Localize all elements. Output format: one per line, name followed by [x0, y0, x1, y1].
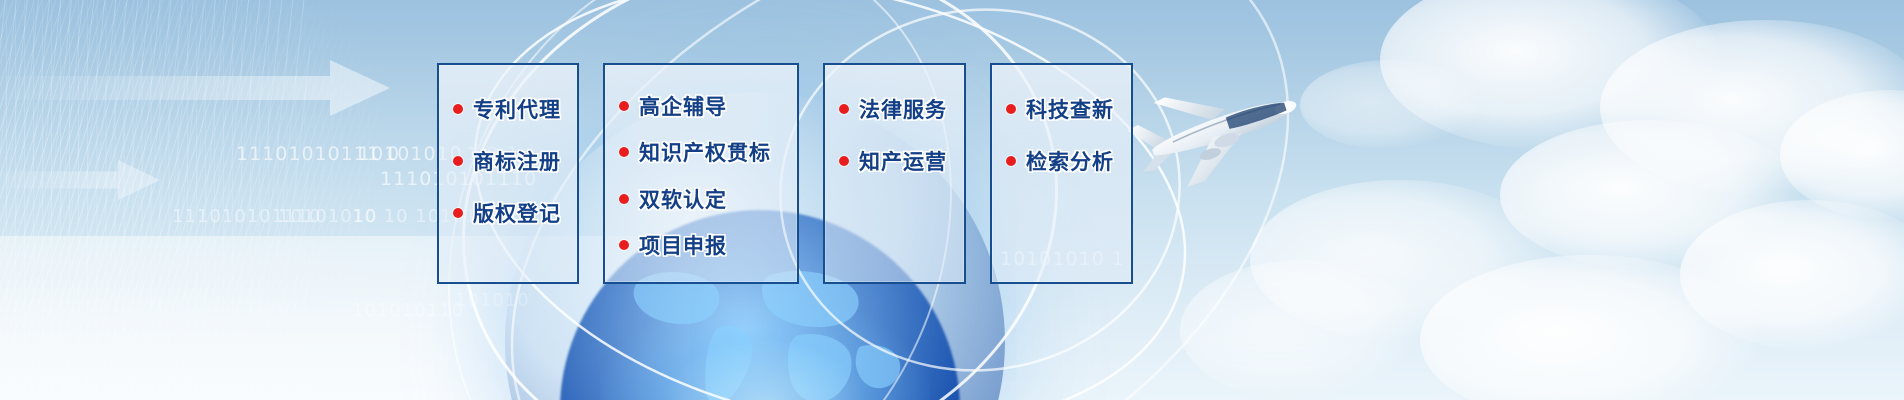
list-item[interactable]: 商标注册	[453, 135, 567, 187]
list-item[interactable]: 知产运营	[839, 135, 954, 187]
service-label: 法律服务	[859, 94, 947, 124]
list-item[interactable]: 双软认定	[619, 176, 787, 222]
bullet-icon	[839, 104, 849, 114]
bullet-icon	[453, 104, 463, 114]
list-item[interactable]: 版权登记	[453, 187, 567, 239]
bullet-icon	[453, 208, 463, 218]
panel-enterprise[interactable]: 高企辅导 知识产权贯标 双软认定 项目申报	[603, 63, 799, 284]
panel-ip-basic[interactable]: 专利代理 商标注册 版权登记	[437, 63, 579, 284]
list-item[interactable]: 高企辅导	[619, 83, 787, 129]
service-label: 专利代理	[473, 94, 561, 124]
bullet-icon	[1006, 104, 1016, 114]
service-label: 知产运营	[859, 146, 947, 176]
bullet-icon	[619, 240, 629, 250]
bullet-icon	[839, 156, 849, 166]
service-label: 高企辅导	[639, 91, 727, 121]
service-label: 项目申报	[639, 230, 727, 260]
bullet-icon	[619, 194, 629, 204]
service-label: 检索分析	[1026, 146, 1114, 176]
panel-research[interactable]: 科技查新 检索分析	[990, 63, 1133, 284]
list-item[interactable]: 法律服务	[839, 83, 954, 135]
service-panels: 专利代理 商标注册 版权登记 高企辅导 知识产权贯标 双软	[0, 0, 1904, 400]
bullet-icon	[619, 147, 629, 157]
bullet-icon	[1006, 156, 1016, 166]
service-label: 商标注册	[473, 146, 561, 176]
list-item[interactable]: 项目申报	[619, 222, 787, 268]
service-label: 知识产权贯标	[639, 137, 771, 167]
panel-legal[interactable]: 法律服务 知产运营	[823, 63, 966, 284]
bullet-icon	[619, 101, 629, 111]
list-item[interactable]: 科技查新	[1006, 83, 1121, 135]
service-label: 双软认定	[639, 184, 727, 214]
hero-banner: 11101010111 0 10101010 1 0 1 11101010111…	[0, 0, 1904, 400]
list-item[interactable]: 知识产权贯标	[619, 129, 787, 175]
list-item[interactable]: 检索分析	[1006, 135, 1121, 187]
service-label: 版权登记	[473, 198, 561, 228]
bullet-icon	[453, 156, 463, 166]
list-item[interactable]: 专利代理	[453, 83, 567, 135]
service-label: 科技查新	[1026, 94, 1114, 124]
